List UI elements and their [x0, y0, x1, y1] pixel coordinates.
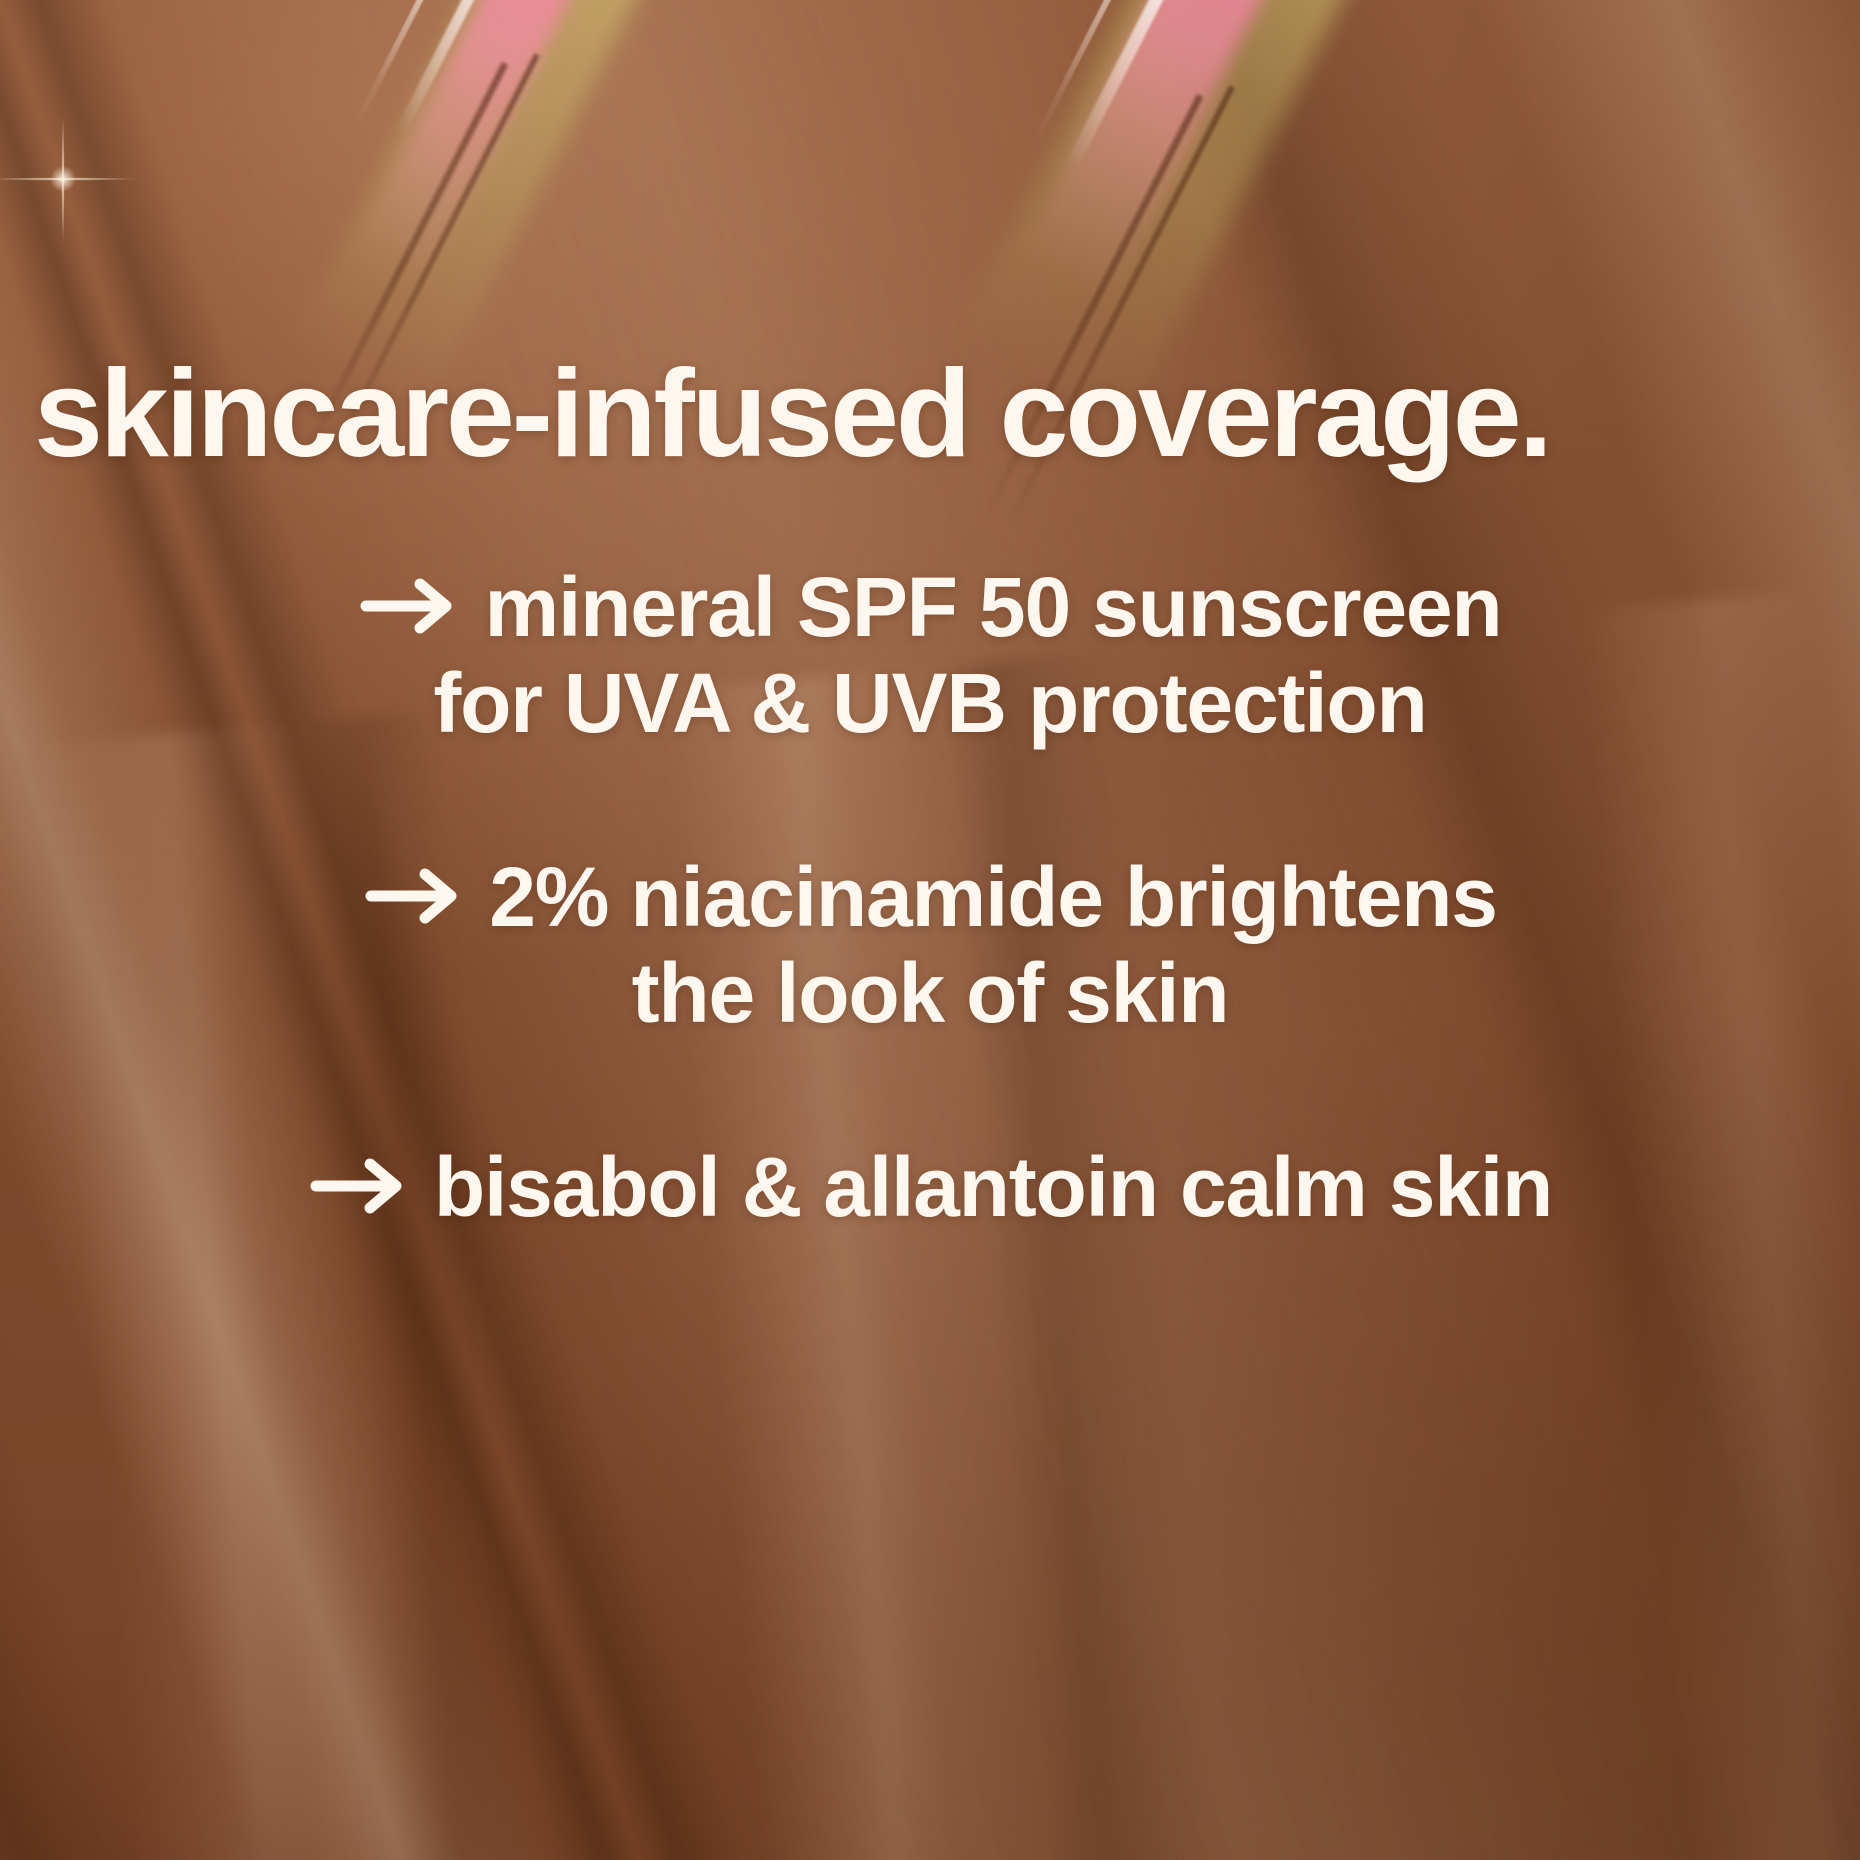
arrow-right-icon [358, 578, 458, 634]
text-content: skincare-infused coverage. mineral SPF 5… [0, 0, 1860, 1860]
bullet-line: bisabol & allantoin calm skin [0, 1140, 1860, 1236]
bullet-line: mineral SPF 50 sunscreen [0, 560, 1860, 656]
bullet-text: the look of skin [0, 946, 1860, 1042]
page-title: skincare-infused coverage. [34, 352, 1834, 476]
list-item: bisabol & allantoin calm skin [0, 1140, 1860, 1236]
bullet-line: 2% niacinamide brightens [0, 850, 1860, 946]
arrow-right-icon [363, 868, 463, 924]
bullet-text: 2% niacinamide brightens [489, 850, 1496, 944]
bullet-text: bisabol & allantoin calm skin [434, 1140, 1552, 1234]
list-item: mineral SPF 50 sunscreen for UVA & UVB p… [0, 560, 1860, 752]
list-item: 2% niacinamide brightens the look of ski… [0, 850, 1860, 1042]
bullet-text: for UVA & UVB protection [0, 656, 1860, 752]
bullet-text: mineral SPF 50 sunscreen [484, 560, 1501, 654]
marketing-graphic-canvas: skincare-infused coverage. mineral SPF 5… [0, 0, 1860, 1860]
arrow-right-icon [308, 1158, 408, 1214]
